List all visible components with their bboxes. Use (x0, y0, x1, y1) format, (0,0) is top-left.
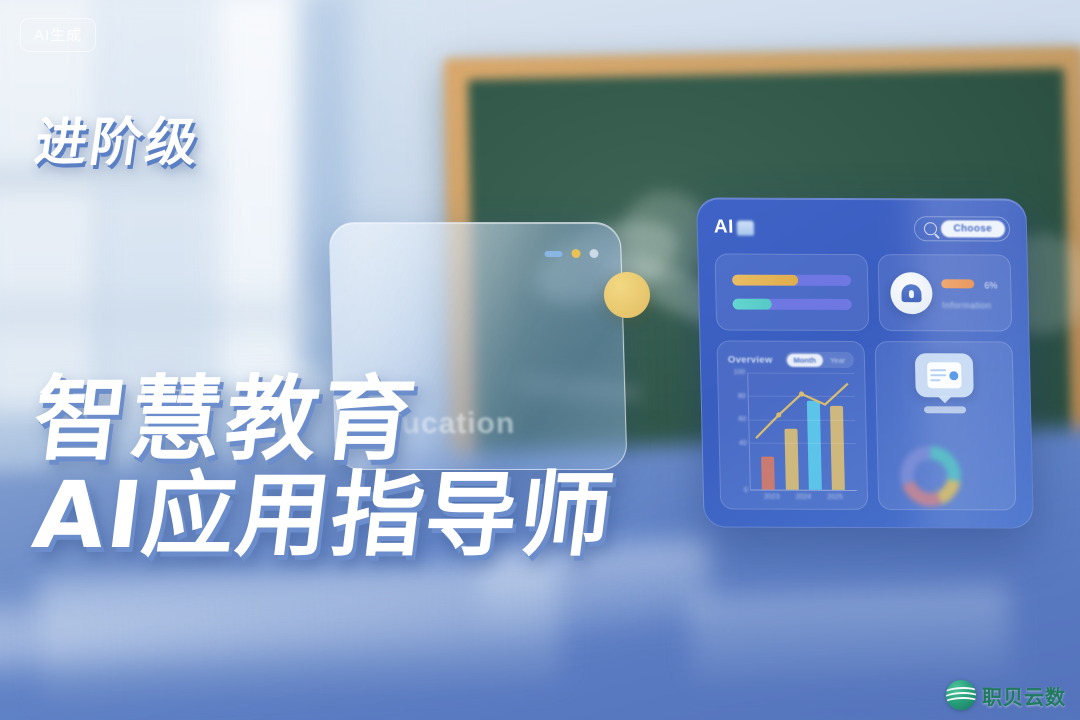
chart-y-tick: 100 (733, 369, 745, 376)
dashboard-header: AI Choose (714, 215, 1011, 242)
window-sill (0, 300, 320, 330)
headline-line-2: AI应用指导师 (28, 468, 619, 564)
headline-line-1: 智慧教育 (28, 372, 619, 468)
chart-y-tick: 0 (744, 487, 748, 494)
profile-percent-label: 6% (984, 280, 997, 290)
poster-canvas: AI生成 进阶级 Education AI Choose (0, 0, 1080, 720)
gold-accent-circle (604, 272, 650, 318)
chart-x-tick: 2025 (827, 494, 843, 501)
chart-x-axis: 202320242025 (731, 490, 857, 500)
search-bar[interactable]: Choose (913, 216, 1010, 241)
chart-range-toggle[interactable]: Month Year (785, 352, 854, 368)
message-card-dot (949, 371, 958, 380)
window-pane (100, 0, 220, 420)
dashboard-panel: AI Choose (696, 197, 1034, 528)
chart-range-inactive[interactable]: Year (823, 353, 852, 366)
message-card-icon (915, 353, 974, 397)
brand-logo-icon (946, 680, 976, 710)
chart-line-series (748, 373, 856, 479)
wave-line (946, 697, 976, 707)
profile-progress-bar (942, 280, 974, 289)
ai-generated-badge: AI生成 (20, 18, 96, 52)
progress-fill-2 (733, 299, 773, 310)
dashboard-row-top: 6% Information (714, 254, 1012, 332)
message-line (930, 374, 946, 377)
side-card-divider (924, 406, 966, 413)
profile-progress-row: 6% (941, 275, 999, 293)
chart-range-active[interactable]: Month (786, 353, 823, 366)
search-icon[interactable] (923, 222, 936, 235)
header-action-button[interactable]: Choose (940, 220, 1005, 237)
camera-dot-icon (589, 249, 598, 258)
profile-subtitle: Information (942, 300, 1000, 310)
brand-watermark: 职贝云数 (946, 680, 1066, 710)
chart-plot-area (747, 373, 856, 491)
chart-plot: 1008060400 (728, 373, 856, 491)
donut-chart-icon (899, 445, 962, 507)
user-badge-icon (902, 284, 922, 302)
window-pane (0, 0, 100, 410)
message-card-body (927, 362, 962, 388)
chart-x-tick: 2023 (764, 494, 780, 501)
speaker-bar-icon (544, 251, 562, 257)
chart-card: Overview Month Year 1008060400 202320242… (716, 340, 868, 509)
progress-fill-1 (732, 275, 798, 286)
tablet-status-dots (544, 249, 598, 258)
dashboard-row-bottom: Overview Month Year 1008060400 202320242… (716, 340, 1016, 510)
profile-card: 6% Information (878, 254, 1012, 331)
desk-object (689, 584, 1012, 685)
avatar (890, 272, 933, 314)
chart-card-header: Overview Month Year (728, 352, 854, 368)
window-pane (215, 0, 310, 390)
dashboard-logo-text: AI (714, 217, 735, 239)
level-tag: 进阶级 (31, 100, 207, 175)
chart-y-tick: 80 (738, 393, 746, 400)
dashboard-logo: AI (714, 217, 755, 239)
headline: 智慧教育 AI应用指导师 (34, 372, 613, 564)
message-line (930, 369, 946, 372)
message-card-lines (930, 369, 946, 382)
chart-x-tick: 2024 (795, 494, 811, 501)
profile-meta: 6% Information (941, 275, 999, 310)
progress-card (714, 254, 869, 332)
progress-track-2 (733, 299, 853, 310)
brand-name: 职贝云数 (982, 681, 1066, 710)
chart-y-tick: 60 (738, 416, 746, 423)
message-line (930, 379, 940, 382)
progress-track-1 (732, 275, 852, 286)
indicator-dot-yellow (571, 249, 580, 258)
chart-title: Overview (728, 354, 773, 365)
chart-y-tick: 40 (739, 440, 747, 447)
logo-mark-icon (737, 220, 754, 235)
